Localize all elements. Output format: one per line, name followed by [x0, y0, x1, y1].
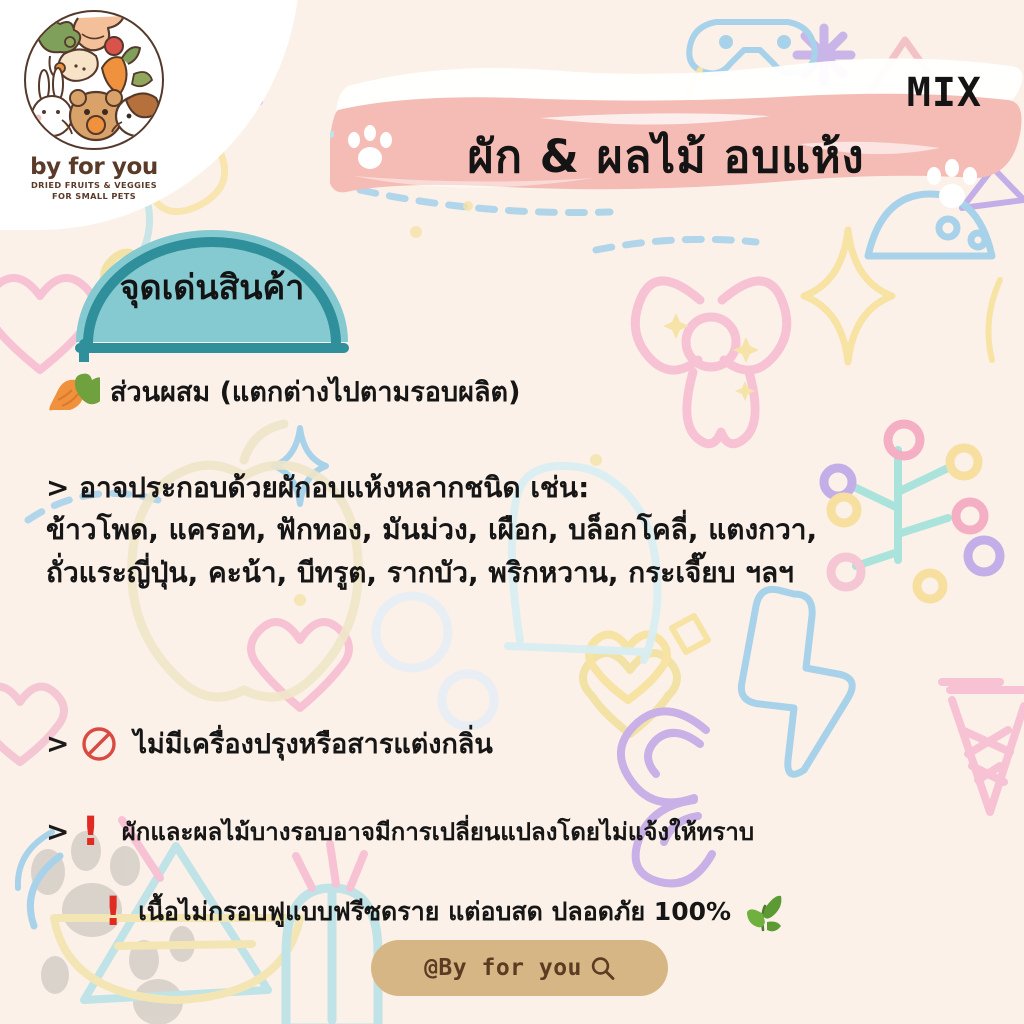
leaf-icon	[743, 892, 783, 932]
note-row-texture-safety: ! เนื้อไม่กรอบฟูแบบฟรีซดราย แต่อบสด ปลอด…	[104, 892, 783, 932]
prohibition-icon	[81, 726, 117, 762]
note-text-may-change: ผักและผลไม้บางรอบอาจมีการเปลี่ยนแปลงโดยไ…	[122, 812, 754, 851]
ingredients-line-3: ถั่วแระญี่ปุ่น, คะน้า, บีทรูต, รากบัว, พ…	[46, 551, 794, 595]
brand-handle-text: @By for you	[424, 955, 582, 981]
ingredients-heading-text: ส่วนผสม (แตกต่างไปตามรอบผลิต)	[110, 370, 520, 413]
exclamation-icon: !	[104, 894, 122, 930]
note-chevron: >	[46, 815, 69, 848]
brand-handle-pill[interactable]: @By for you	[371, 940, 668, 996]
ingredients-line-2: ข้าวโพด, แครอท, ฟักทอง, มันม่วง, เผือก, …	[46, 508, 817, 552]
ingredients-heading-row: ส่วนผสม (แตกต่างไปตามรอบผลิต)	[46, 368, 520, 414]
note-chevron: >	[46, 727, 69, 760]
carrot-icon	[46, 368, 100, 414]
note-text-no-seasoning: ไม่มีเครื่องปรุงหรือสารแต่งกลิ่น	[133, 722, 492, 765]
magnifier-icon	[590, 956, 615, 981]
poster-canvas: by for you DRIED FRUITS & VEGGIES FOR SM…	[0, 0, 1024, 1024]
ingredients-line-1: > อาจประกอบด้วยผักอบแห้งหลากชนิด เช่น:	[46, 466, 589, 510]
poster-content: ส่วนผสม (แตกต่างไปตามรอบผลิต) > อาจประกอ…	[0, 0, 1024, 1024]
note-row-no-seasoning: > ไม่มีเครื่องปรุงหรือสารแต่งกลิ่น	[46, 722, 493, 765]
exclamation-icon: !	[81, 814, 99, 850]
note-text-texture-safety: เนื้อไม่กรอบฟูแบบฟรีซดราย แต่อบสด ปลอดภั…	[138, 892, 731, 932]
note-row-may-change: > ! ผักและผลไม้บางรอบอาจมีการเปลี่ยนแปลง…	[46, 812, 754, 851]
